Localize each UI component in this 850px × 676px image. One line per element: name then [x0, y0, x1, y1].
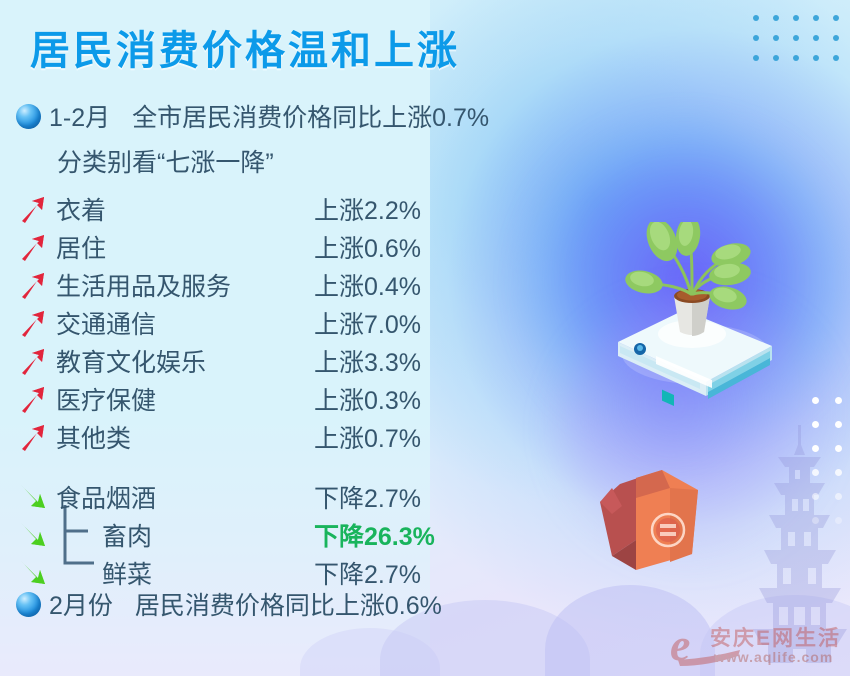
category-value: 上涨3.3% — [314, 343, 421, 379]
infographic-poster: 居民消费价格温和上涨 1-2月全市居民消费价格同比上涨0.7% 分类别看“七涨一… — [0, 0, 850, 676]
category-value: 上涨0.4% — [314, 267, 421, 303]
arrow-down-icon — [18, 558, 48, 588]
arrow-up-icon — [18, 384, 48, 414]
category-label: 畜肉 — [56, 517, 152, 553]
category-row: 教育文化娱乐上涨3.3% — [18, 342, 488, 380]
arrow-up-icon — [18, 232, 48, 262]
watermark-url: www.aqlife.com — [714, 649, 833, 665]
category-value: 上涨0.6% — [314, 229, 421, 265]
category-row: 食品烟酒下降2.7% — [18, 478, 488, 516]
category-value: 上涨0.7% — [314, 419, 421, 455]
category-row: 生活用品及服务上涨0.4% — [18, 266, 488, 304]
category-label: 教育文化娱乐 — [56, 343, 206, 379]
period-label-first: 1-2月 — [49, 104, 110, 132]
category-value: 下降2.7% — [314, 479, 421, 515]
category-row: 交通通信上涨7.0% — [18, 304, 488, 342]
category-value: 上涨0.3% — [314, 381, 421, 417]
category-value: 下降26.3% — [314, 517, 435, 553]
category-label: 医疗保健 — [56, 381, 156, 417]
watermark-brand: 安庆E网生活 — [710, 622, 841, 652]
arrow-up-icon — [18, 422, 48, 452]
arrow-up-icon — [18, 346, 48, 376]
statement-first: 全市居民消费价格同比上涨0.7% — [132, 104, 489, 132]
category-value: 上涨2.2% — [314, 191, 421, 227]
arrow-up-icon — [18, 308, 48, 338]
statement-last: 居民消费价格同比上涨0.6% — [135, 592, 442, 620]
category-label: 居住 — [56, 229, 106, 265]
summary-line-first-text: 1-2月全市居民消费价格同比上涨0.7% — [49, 98, 489, 134]
category-label: 生活用品及服务 — [56, 267, 231, 303]
category-row: 其他类上涨0.7% — [18, 418, 488, 456]
category-label: 食品烟酒 — [56, 479, 156, 515]
category-label: 交通通信 — [56, 305, 156, 341]
category-value: 上涨7.0% — [314, 305, 421, 341]
arrow-down-icon — [18, 482, 48, 512]
category-label: 其他类 — [56, 419, 131, 455]
period-label-last: 2月份 — [49, 592, 113, 620]
category-row: 医疗保健上涨0.3% — [18, 380, 488, 418]
summary-line-last-text: 2月份居民消费价格同比上涨0.6% — [49, 586, 442, 622]
category-label: 衣着 — [56, 191, 106, 227]
blue-sphere-bullet-icon — [16, 592, 41, 617]
blue-sphere-bullet-icon — [16, 104, 41, 129]
page-title: 居民消费价格温和上涨 — [30, 18, 460, 76]
arrow-down-icon — [18, 520, 48, 550]
category-subhead: 分类别看“七涨一降” — [57, 143, 274, 179]
summary-line-last: 2月份居民消费价格同比上涨0.6% — [16, 586, 442, 622]
category-row: 衣着上涨2.2% — [18, 190, 488, 228]
arrow-up-icon — [18, 194, 48, 224]
arrow-up-icon — [18, 270, 48, 300]
category-row: 畜肉下降26.3% — [18, 516, 488, 554]
watermark: e 安庆E网生活 www.aqlife.com — [668, 616, 850, 672]
category-row: 居住上涨0.6% — [18, 228, 488, 266]
summary-line-first: 1-2月全市居民消费价格同比上涨0.7% — [16, 98, 489, 134]
